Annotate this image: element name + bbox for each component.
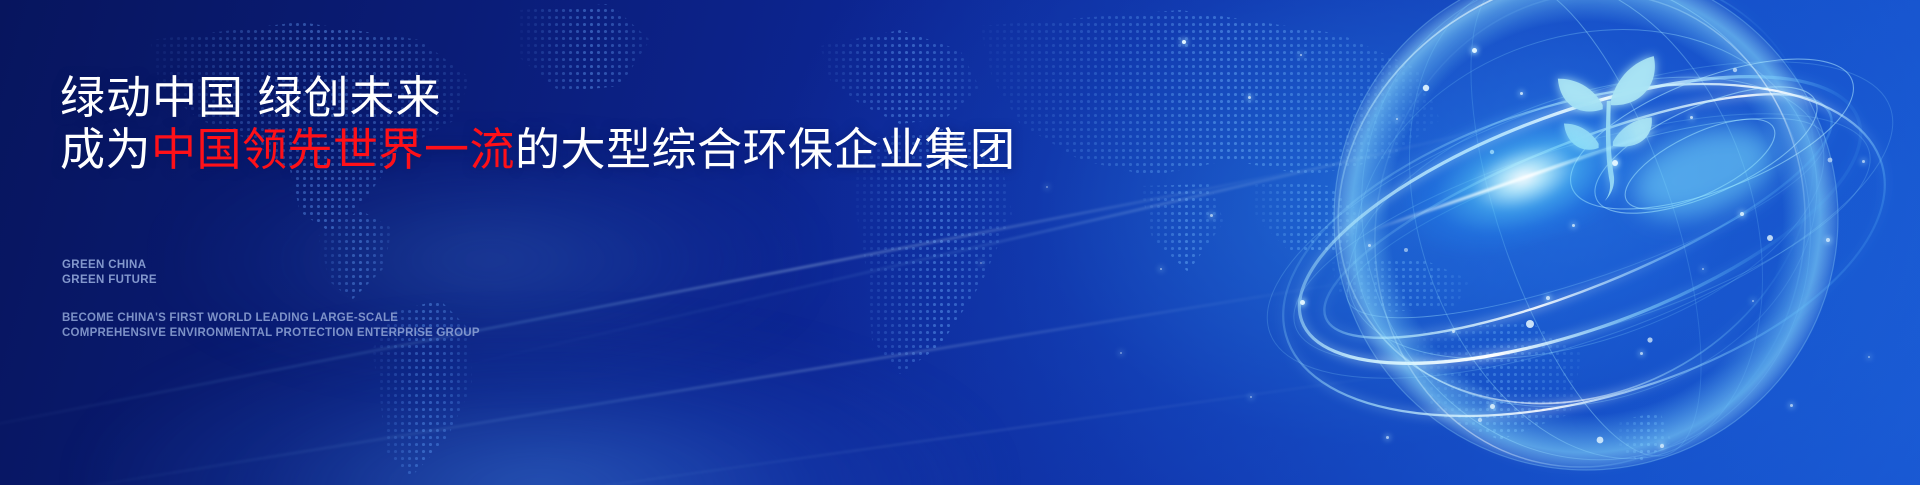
headline-line-1: 绿动中国 绿创未来 xyxy=(60,72,1016,124)
page-title: 绿动中国 绿创未来 成为中国领先世界一流的大型综合环保企业集团 xyxy=(60,72,1016,176)
headline-line-2-prefix: 成为 xyxy=(60,124,151,175)
globe-graphic xyxy=(1230,0,1920,485)
headline-line-2-suffix: 的大型综合环保企业集团 xyxy=(515,124,1016,175)
sprout-icon xyxy=(1558,56,1655,201)
banner-text-block: 绿动中国 绿创未来 成为中国领先世界一流的大型综合环保企业集团 GREEN CH… xyxy=(60,0,1060,485)
light-burst xyxy=(1389,79,1657,277)
subtitle-line-2: COMPREHENSIVE ENVIRONMENTAL PROTECTION E… xyxy=(62,326,480,341)
tagline-line-1: GREEN CHINA xyxy=(62,258,157,273)
headline-highlight: 中国领先世界一流 xyxy=(151,124,515,175)
hero-banner: 绿动中国 绿创未来 成为中国领先世界一流的大型综合环保企业集团 GREEN CH… xyxy=(0,0,1920,485)
tagline-line-2: GREEN FUTURE xyxy=(62,273,157,288)
tagline-english: GREEN CHINA GREEN FUTURE xyxy=(62,258,157,288)
light-burst-spike xyxy=(1367,123,1680,233)
subtitle-english: BECOME CHINA'S FIRST WORLD LEADING LARGE… xyxy=(62,311,480,340)
headline-line-2: 成为中国领先世界一流的大型综合环保企业集团 xyxy=(60,124,1016,176)
subtitle-line-1: BECOME CHINA'S FIRST WORLD LEADING LARGE… xyxy=(62,311,480,326)
